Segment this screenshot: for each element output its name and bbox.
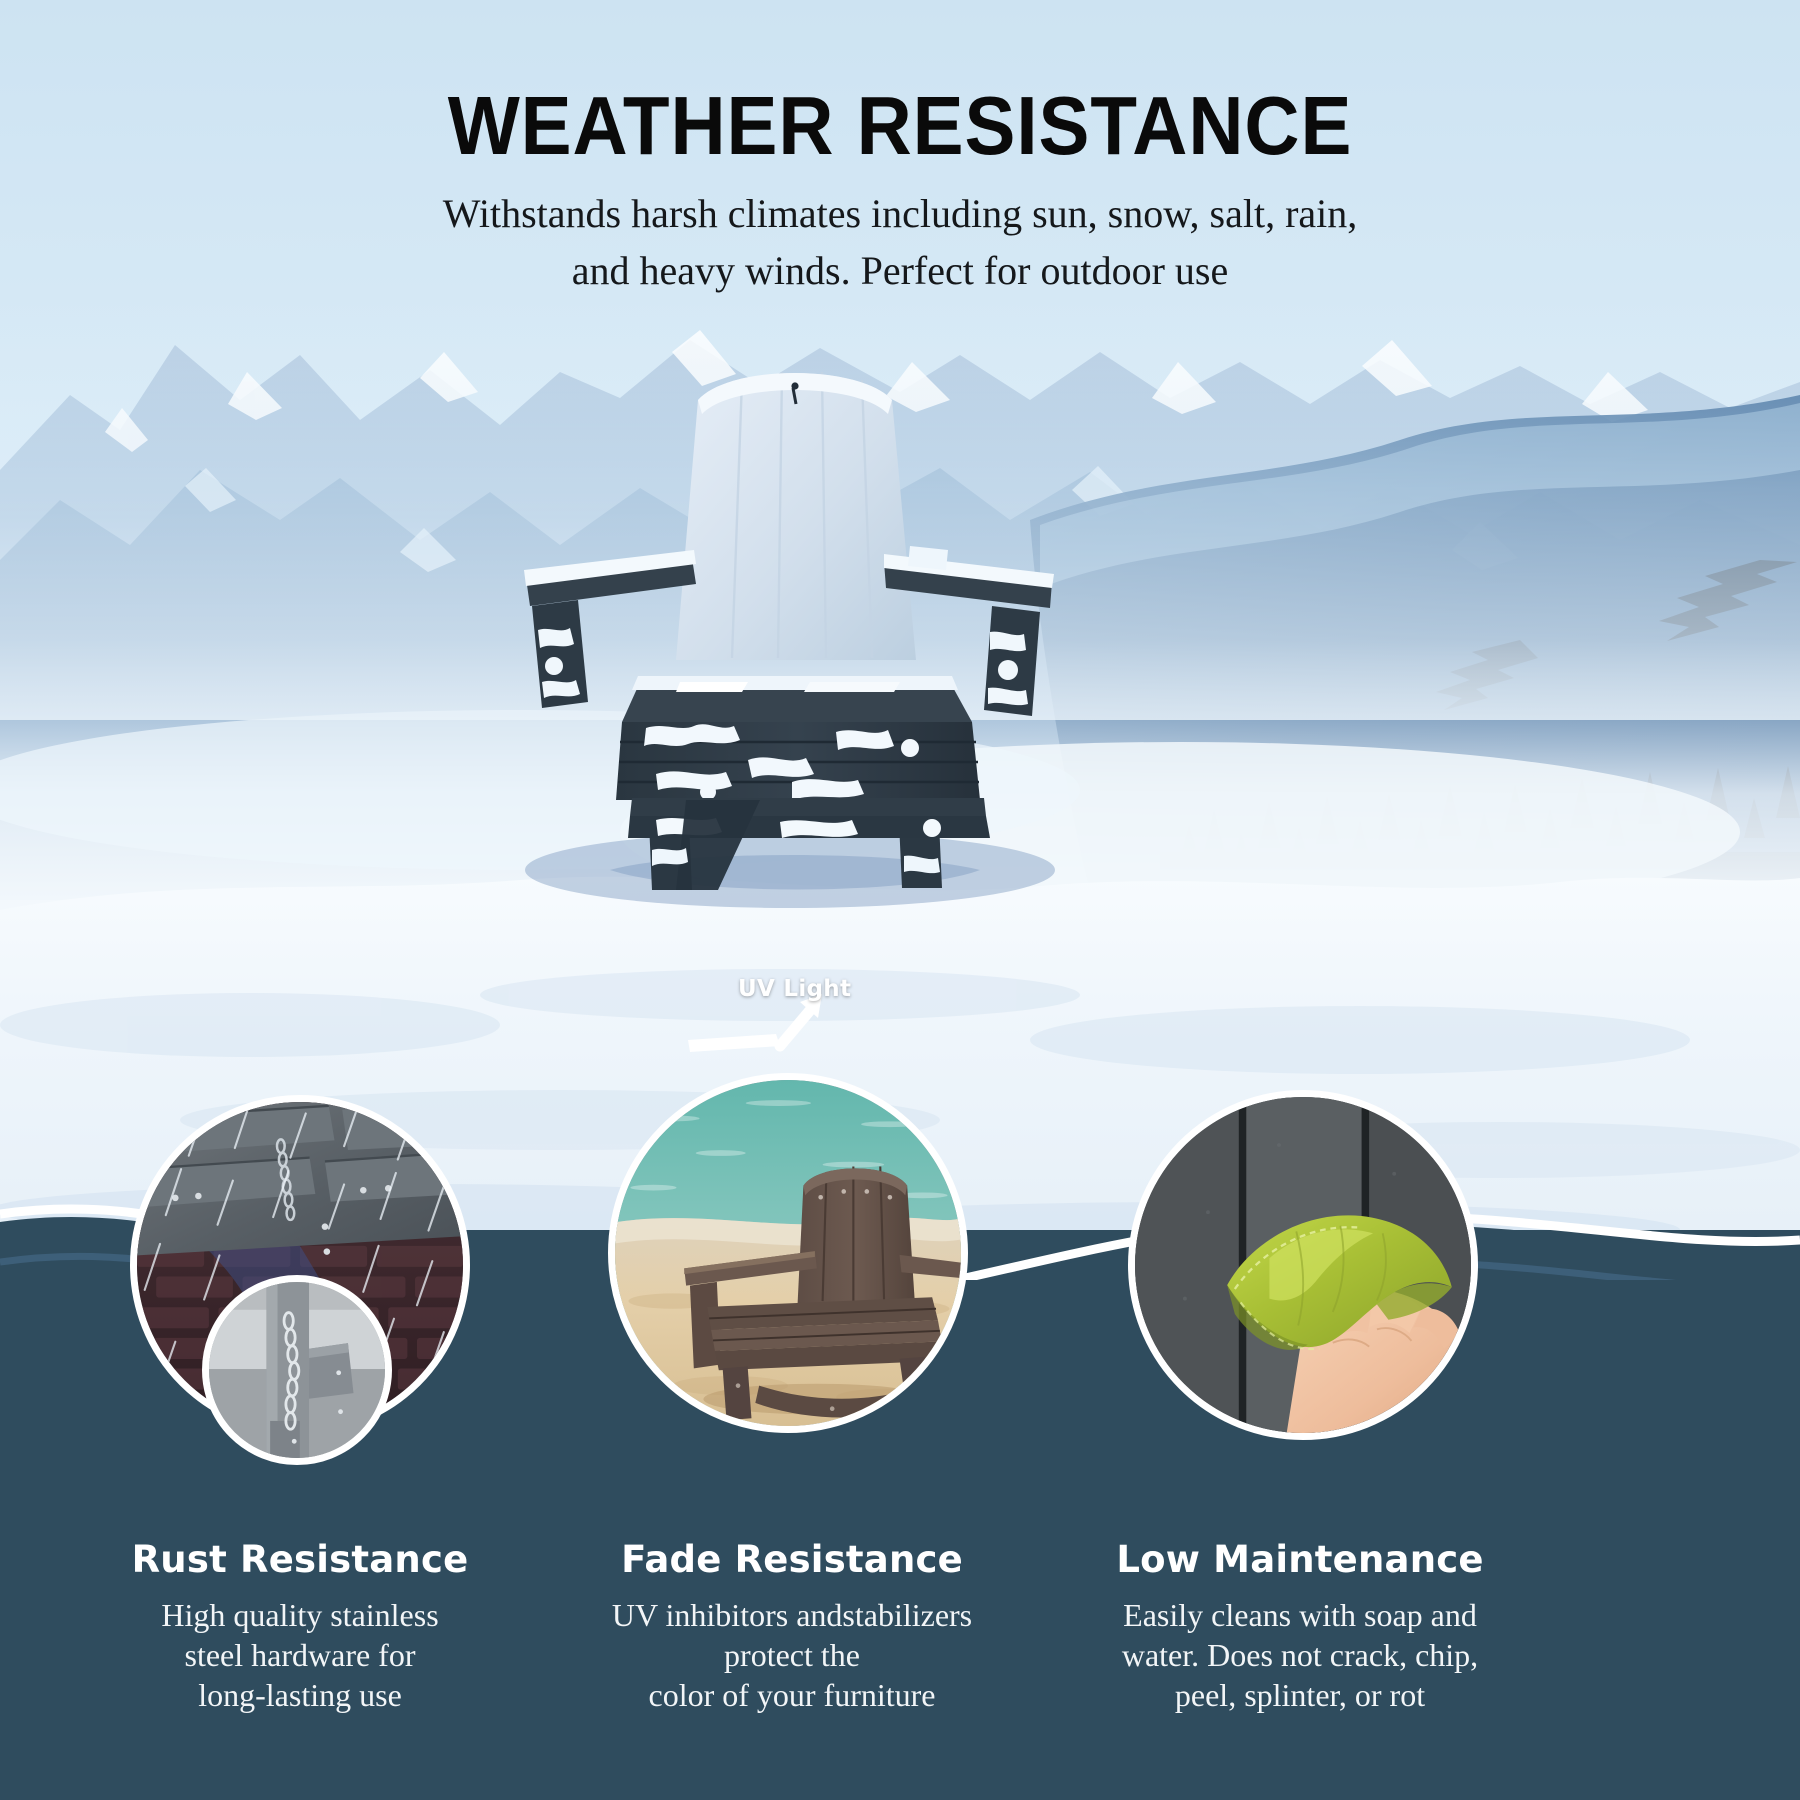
feature-line-3: peel, splinter, or rot xyxy=(1175,1677,1425,1713)
page-title: WEATHER RESISTANCE xyxy=(72,78,1728,174)
uv-light-arrow-icon xyxy=(680,990,850,1070)
feature-image-low-maintenance xyxy=(1128,1090,1478,1440)
feature-line-2: water. Does not crack, chip, xyxy=(1122,1637,1478,1673)
feature-description: Easily cleans with soap and water. Does … xyxy=(1020,1595,1580,1715)
feature-text-rust-resistance: Rust Resistance High quality stainless s… xyxy=(20,1538,580,1715)
product-feature-infographic: UV Light WEATHER RESISTANCE Withstands h… xyxy=(0,0,1800,1800)
feature-line-1: High quality stainless xyxy=(161,1597,438,1633)
feature-line-3: color of your furniture xyxy=(648,1677,935,1713)
feature-text-low-maintenance: Low Maintenance Easily cleans with soap … xyxy=(1020,1538,1580,1715)
feature-text-fade-resistance: Fade Resistance UV inhibitors andstabili… xyxy=(512,1538,1072,1715)
subtitle-line-2: and heavy winds. Perfect for outdoor use xyxy=(0,242,1800,299)
feature-image-fade-resistance xyxy=(608,1073,968,1433)
feature-line-3: long-lasting use xyxy=(198,1677,402,1713)
subtitle-line-1: Withstands harsh climates including sun,… xyxy=(0,185,1800,242)
page-subtitle: Withstands harsh climates including sun,… xyxy=(0,185,1800,299)
feature-inset-hardware-closeup xyxy=(202,1275,392,1465)
feature-title: Low Maintenance xyxy=(1020,1538,1580,1581)
feature-line-2: steel hardware for xyxy=(185,1637,416,1673)
feature-line-2: protect the xyxy=(724,1637,860,1673)
uv-light-label: UV Light xyxy=(738,976,851,1002)
feature-title: Fade Resistance xyxy=(512,1538,1072,1581)
feature-title: Rust Resistance xyxy=(20,1538,580,1581)
feature-description: UV inhibitors andstabilizers protect the… xyxy=(512,1595,1072,1715)
feature-line-1: Easily cleans with soap and xyxy=(1123,1597,1477,1633)
feature-description: High quality stainless steel hardware fo… xyxy=(20,1595,580,1715)
feature-line-1: UV inhibitors andstabilizers xyxy=(612,1597,972,1633)
